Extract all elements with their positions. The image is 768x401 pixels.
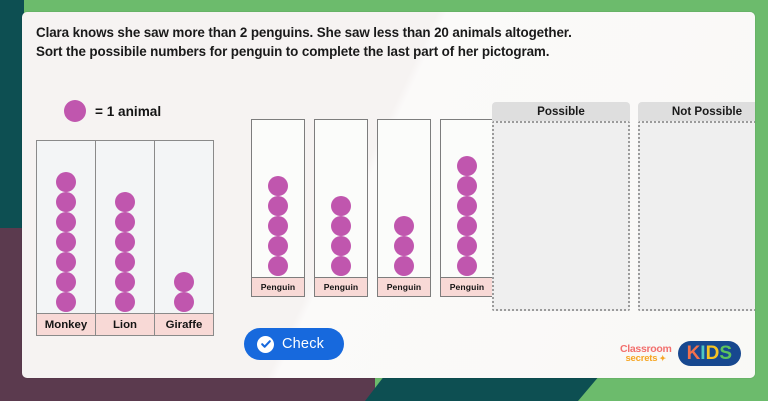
classroom-secrets-line2-row: secrets ✦ bbox=[625, 354, 666, 364]
penguin-card-label: Penguin bbox=[252, 277, 304, 296]
kids-letter-k: K bbox=[687, 344, 701, 363]
penguin-card-label: Penguin bbox=[315, 277, 367, 296]
pictogram-dot bbox=[174, 272, 194, 292]
check-button-label: Check bbox=[282, 336, 324, 352]
sort-zone-possible-title: Possible bbox=[492, 102, 630, 121]
penguin-dot bbox=[331, 196, 351, 216]
magenta-circle-icon bbox=[64, 100, 86, 122]
sort-zone-not-possible[interactable]: Not Possible bbox=[638, 102, 755, 311]
frame-band-bottom-green bbox=[578, 375, 768, 401]
legend: = 1 animal bbox=[64, 100, 161, 122]
kids-letter-s: S bbox=[719, 344, 732, 363]
pictogram-dot bbox=[115, 292, 135, 312]
check-circle-icon bbox=[257, 336, 274, 353]
sort-zone-possible[interactable]: Possible bbox=[492, 102, 630, 311]
classroom-secrets-logo: Classroom secrets ✦ bbox=[620, 344, 672, 364]
penguin-card-tray: Penguin Penguin bbox=[251, 119, 494, 297]
sort-zone-not-possible-droparea[interactable] bbox=[638, 121, 755, 311]
pictogram-dot bbox=[56, 192, 76, 212]
penguin-dot bbox=[394, 256, 414, 276]
penguin-card-stack bbox=[441, 120, 493, 277]
penguin-card-4[interactable]: Penguin bbox=[314, 119, 368, 297]
classroom-secrets-line2: secrets bbox=[625, 354, 657, 364]
pictogram-dot bbox=[56, 292, 76, 312]
penguin-card-6[interactable]: Penguin bbox=[440, 119, 494, 297]
penguin-dot bbox=[457, 196, 477, 216]
pictogram-dot bbox=[56, 212, 76, 232]
frame-band-bottom-purple bbox=[0, 375, 375, 401]
pictogram-column-monkey: Monkey bbox=[37, 141, 96, 335]
pictogram-table: Monkey Lion bbox=[36, 140, 214, 336]
kids-logo: K I D S bbox=[678, 341, 741, 366]
penguin-dot bbox=[331, 256, 351, 276]
pictogram-label-monkey: Monkey bbox=[37, 313, 95, 335]
penguin-dot bbox=[331, 236, 351, 256]
sort-zone-possible-droparea[interactable] bbox=[492, 121, 630, 311]
penguin-dot bbox=[268, 216, 288, 236]
pictogram-column-lion: Lion bbox=[96, 141, 155, 335]
question-text: Clara knows she saw more than 2 penguins… bbox=[36, 23, 736, 62]
penguin-card-5[interactable]: Penguin bbox=[251, 119, 305, 297]
pictogram-dot bbox=[56, 232, 76, 252]
penguin-dot bbox=[457, 256, 477, 276]
pictogram-label-lion: Lion bbox=[96, 313, 154, 335]
pictogram-column-giraffe: Giraffe bbox=[155, 141, 213, 335]
penguin-dot bbox=[457, 216, 477, 236]
penguin-dot bbox=[457, 156, 477, 176]
pictogram-stack-lion bbox=[96, 141, 154, 313]
penguin-card-label: Penguin bbox=[441, 277, 493, 296]
penguin-card-label: Penguin bbox=[378, 277, 430, 296]
question-line-2: Sort the possibile numbers for penguin t… bbox=[36, 42, 736, 61]
penguin-card-3[interactable]: Penguin bbox=[377, 119, 431, 297]
penguin-card-stack bbox=[378, 120, 430, 277]
check-button[interactable]: Check bbox=[244, 328, 344, 360]
penguin-dot bbox=[268, 256, 288, 276]
penguin-dot bbox=[268, 176, 288, 196]
pictogram-dot bbox=[174, 292, 194, 312]
pictogram-dot bbox=[115, 272, 135, 292]
penguin-card-stack bbox=[252, 120, 304, 277]
pictogram-dot bbox=[115, 252, 135, 272]
frame-band-top bbox=[0, 0, 768, 8]
penguin-dot bbox=[394, 216, 414, 236]
pictogram-dot bbox=[115, 212, 135, 232]
pictogram-label-giraffe: Giraffe bbox=[155, 313, 213, 335]
sparkle-icon: ✦ bbox=[659, 355, 666, 363]
penguin-card-stack bbox=[315, 120, 367, 277]
sort-zones: Possible Not Possible bbox=[492, 102, 755, 311]
pictogram-dot bbox=[115, 232, 135, 252]
sort-zone-not-possible-title: Not Possible bbox=[638, 102, 755, 121]
pictogram-dot bbox=[56, 172, 76, 192]
activity-card: Clara knows she saw more than 2 penguins… bbox=[22, 12, 755, 378]
pictogram-stack-giraffe bbox=[155, 141, 213, 313]
question-line-1: Clara knows she saw more than 2 penguins… bbox=[36, 23, 736, 42]
penguin-dot bbox=[331, 216, 351, 236]
slide-stage: Clara knows she saw more than 2 penguins… bbox=[0, 0, 768, 401]
kids-letter-d: D bbox=[706, 344, 720, 363]
logo-group: Classroom secrets ✦ K I D S bbox=[620, 341, 741, 366]
penguin-dot bbox=[457, 176, 477, 196]
frame-band-left-teal bbox=[0, 0, 24, 228]
pictogram-dot bbox=[115, 192, 135, 212]
pictogram-stack-monkey bbox=[37, 141, 95, 313]
penguin-dot bbox=[394, 236, 414, 256]
penguin-dot bbox=[268, 196, 288, 216]
penguin-dot bbox=[457, 236, 477, 256]
legend-label: = 1 animal bbox=[95, 104, 161, 119]
penguin-dot bbox=[268, 236, 288, 256]
pictogram-dot bbox=[56, 252, 76, 272]
pictogram-dot bbox=[56, 272, 76, 292]
